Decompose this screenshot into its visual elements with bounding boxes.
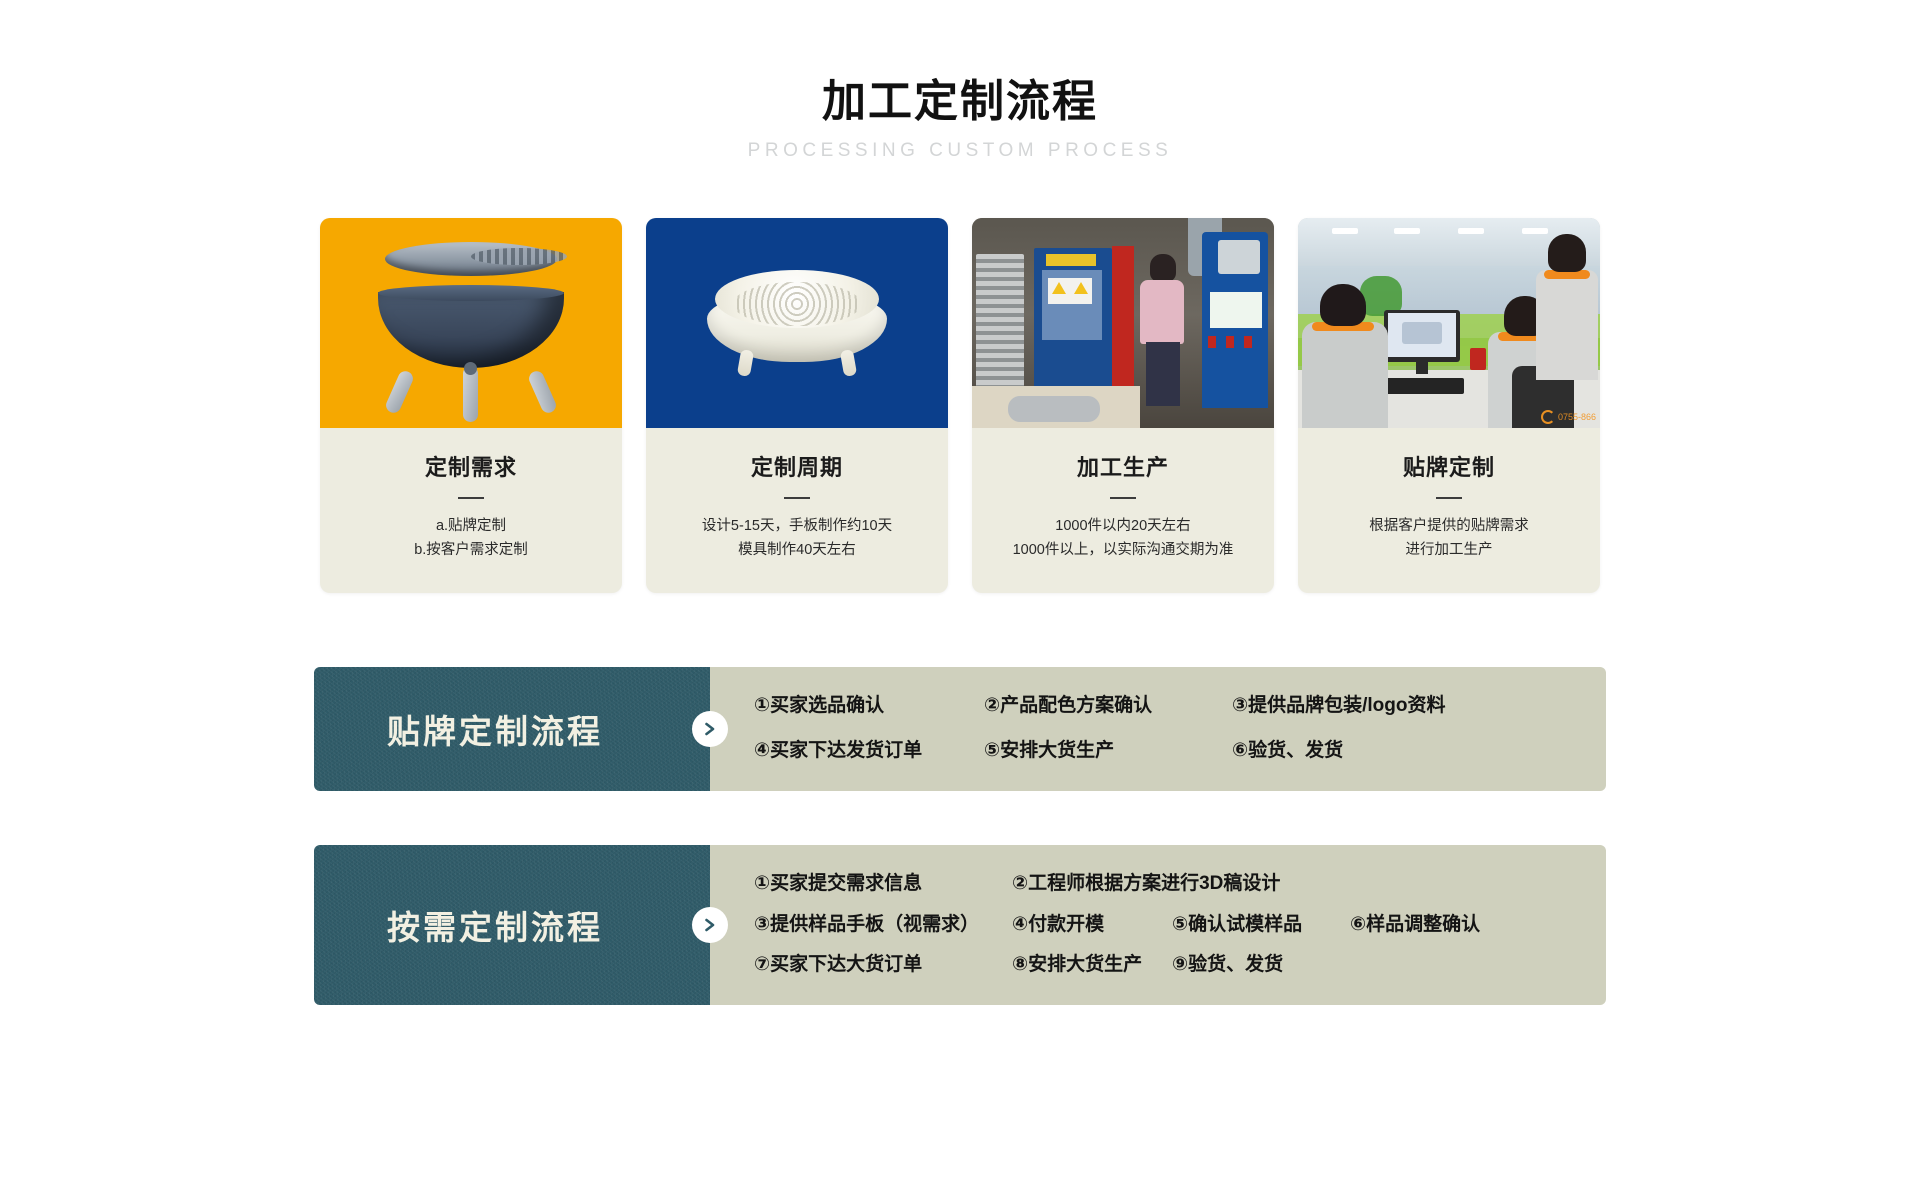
pen-holder <box>1470 348 1486 370</box>
banner-ondemand-steps: ①买家提交需求信息 ②工程师根据方案进行3D稿设计 ③提供样品手板（视需求） ④… <box>710 845 1606 1005</box>
card-description-line-2: 1000件以上，以实际沟通交期为准 <box>984 539 1262 563</box>
card-description-line-1: 1000件以内20天左右 <box>984 515 1262 539</box>
cad-drawing-on-screen <box>1402 322 1442 344</box>
monitor-stand <box>1416 362 1428 374</box>
photo-watermark: 0755-866 <box>1541 410 1596 424</box>
card-body: 贴牌定制 根据客户提供的贴牌需求 进行加工生产 <box>1298 428 1600 593</box>
product-leg-left <box>384 369 416 415</box>
card-description: 设计5-15天，手板制作约10天 模具制作40天左右 <box>658 515 936 563</box>
ceiling-light <box>1332 228 1358 234</box>
control-panel-buttons <box>1208 336 1262 348</box>
card-title: 加工生产 <box>984 450 1262 482</box>
step-row: ④买家下达发货订单 ⑤安排大货生产 ⑥验货、发货 <box>754 740 1580 763</box>
card-description-line-2: 进行加工生产 <box>1310 539 1588 563</box>
step-item: ⑥样品调整确认 <box>1350 914 1480 937</box>
card-description-line-2: b.按客户需求定制 <box>332 539 610 563</box>
step-item: ⑧安排大货生产 <box>1012 954 1172 977</box>
processing-custom-process-page: 加工定制流程 PROCESSING CUSTOM PROCESS 定制需求 a.… <box>0 0 1920 1200</box>
product-leg-center <box>463 366 478 422</box>
process-card-oem[interactable]: 0755-866 贴牌定制 根据客户提供的贴牌需求 进行加工生产 <box>1298 218 1600 593</box>
card-description: a.贴牌定制 b.按客户需求定制 <box>332 515 610 563</box>
chevron-right-icon[interactable] <box>692 907 728 943</box>
card-description: 1000件以内20天左右 1000件以上，以实际沟通交期为准 <box>984 515 1262 563</box>
ceiling-light <box>1458 228 1484 234</box>
employee-right-torso <box>1536 270 1598 380</box>
step-item: ⑤确认试模样品 <box>1172 914 1350 937</box>
worker-legs <box>1146 342 1180 406</box>
ceiling-light <box>1522 228 1548 234</box>
process-card-custom-cycle[interactable]: 定制周期 设计5-15天，手板制作约10天 模具制作40天左右 <box>646 218 948 593</box>
step-item: ⑨验货、发货 <box>1172 954 1283 977</box>
process-banner-list: 贴牌定制流程 ①买家选品确认 ②产品配色方案确认 ③提供品牌包装/logo资料 … <box>0 667 1920 1005</box>
chevron-right-icon[interactable] <box>692 711 728 747</box>
card-description-line-2: 模具制作40天左右 <box>658 539 936 563</box>
card-title: 贴牌定制 <box>1310 450 1588 482</box>
step-row: ①买家选品确认 ②产品配色方案确认 ③提供品牌包装/logo资料 <box>754 695 1580 718</box>
machine-label-sign <box>1046 254 1096 266</box>
watermark-logo-icon <box>1541 410 1555 424</box>
red-machine-column <box>1112 246 1134 398</box>
card-body: 加工生产 1000件以内20天左右 1000件以上，以实际沟通交期为准 <box>972 428 1274 593</box>
keyboard <box>1386 378 1464 394</box>
step-item: ⑥验货、发货 <box>1232 740 1343 763</box>
factory-production-photo <box>972 218 1274 428</box>
white-prototype-render-image <box>646 218 948 428</box>
prototype-top-disc <box>715 270 879 328</box>
card-title: 定制需求 <box>332 450 610 482</box>
warning-label <box>1048 278 1092 304</box>
card-divider <box>1110 497 1136 499</box>
step-item: ④付款开模 <box>1012 914 1172 937</box>
banner-oem-label-panel: 贴牌定制流程 <box>314 667 710 791</box>
step-item: ①买家提交需求信息 <box>754 873 1012 896</box>
process-card-custom-demand[interactable]: 定制需求 a.贴牌定制 b.按客户需求定制 <box>320 218 622 593</box>
molded-part <box>1008 396 1100 422</box>
exploded-product-render-image <box>320 218 622 428</box>
worker-torso <box>1140 280 1184 344</box>
design-office-photo: 0755-866 <box>1298 218 1600 428</box>
process-card-list: 定制需求 a.贴牌定制 b.按客户需求定制 <box>0 218 1920 593</box>
step-item: ③提供品牌包装/logo资料 <box>1232 695 1445 718</box>
employee-right-head <box>1548 234 1586 272</box>
step-row: ③提供样品手板（视需求） ④付款开模 ⑤确认试模样品 ⑥样品调整确认 <box>754 914 1580 937</box>
card-body: 定制需求 a.贴牌定制 b.按客户需求定制 <box>320 428 622 593</box>
card-description-line-1: a.贴牌定制 <box>332 515 610 539</box>
page-title: 加工定制流程 <box>0 78 1920 126</box>
banner-ondemand-process: 按需定制流程 ①买家提交需求信息 ②工程师根据方案进行3D稿设计 ③提供样品手板… <box>314 845 1606 1005</box>
card-body: 定制周期 设计5-15天，手板制作约10天 模具制作40天左右 <box>646 428 948 593</box>
prototype-foot-left <box>737 349 754 377</box>
banner-oem-steps: ①买家选品确认 ②产品配色方案确认 ③提供品牌包装/logo资料 ④买家下达发货… <box>710 667 1606 791</box>
watermark-text: 0755-866 <box>1558 412 1596 422</box>
step-item: ④买家下达发货订单 <box>754 740 984 763</box>
step-item: ①买家选品确认 <box>754 695 984 718</box>
banner-ondemand-label-panel: 按需定制流程 <box>314 845 710 1005</box>
card-description-line-1: 设计5-15天，手板制作约10天 <box>658 515 936 539</box>
product-leg-right <box>527 369 559 415</box>
step-item: ②工程师根据方案进行3D稿设计 <box>1012 873 1280 896</box>
card-divider <box>1436 497 1462 499</box>
process-card-production[interactable]: 加工生产 1000件以内20天左右 1000件以上，以实际沟通交期为准 <box>972 218 1274 593</box>
card-title: 定制周期 <box>658 450 936 482</box>
employee-left-torso <box>1302 322 1388 428</box>
card-description: 根据客户提供的贴牌需求 进行加工生产 <box>1310 515 1588 563</box>
stacked-parts <box>976 254 1024 392</box>
step-item: ②产品配色方案确认 <box>984 695 1232 718</box>
control-panel-screen <box>1210 292 1262 328</box>
step-row: ⑦买家下达大货订单 ⑧安排大货生产 ⑨验货、发货 <box>754 954 1580 977</box>
product-bowl-part <box>378 292 564 368</box>
worker-head <box>1150 254 1176 282</box>
step-item: ③提供样品手板（视需求） <box>754 914 1012 937</box>
prototype-foot-right <box>840 349 857 377</box>
card-divider <box>458 497 484 499</box>
control-panel-upper-display <box>1218 240 1260 274</box>
banner-title: 按需定制流程 <box>387 901 603 949</box>
prototype-maze-pattern <box>733 282 861 326</box>
product-lid-part <box>385 242 557 276</box>
card-description-line-1: 根据客户提供的贴牌需求 <box>1310 515 1588 539</box>
step-row: ①买家提交需求信息 ②工程师根据方案进行3D稿设计 <box>754 873 1580 896</box>
page-subtitle: PROCESSING CUSTOM PROCESS <box>0 140 1920 162</box>
step-item: ⑦买家下达大货订单 <box>754 954 1012 977</box>
banner-oem-process: 贴牌定制流程 ①买家选品确认 ②产品配色方案确认 ③提供品牌包装/logo资料 … <box>314 667 1606 791</box>
prototype-object <box>699 264 895 376</box>
banner-title: 贴牌定制流程 <box>387 705 603 753</box>
employee-left-head <box>1320 284 1366 326</box>
card-divider <box>784 497 810 499</box>
step-item: ⑤安排大货生产 <box>984 740 1232 763</box>
page-header: 加工定制流程 PROCESSING CUSTOM PROCESS <box>0 0 1920 162</box>
ceiling-light <box>1394 228 1420 234</box>
